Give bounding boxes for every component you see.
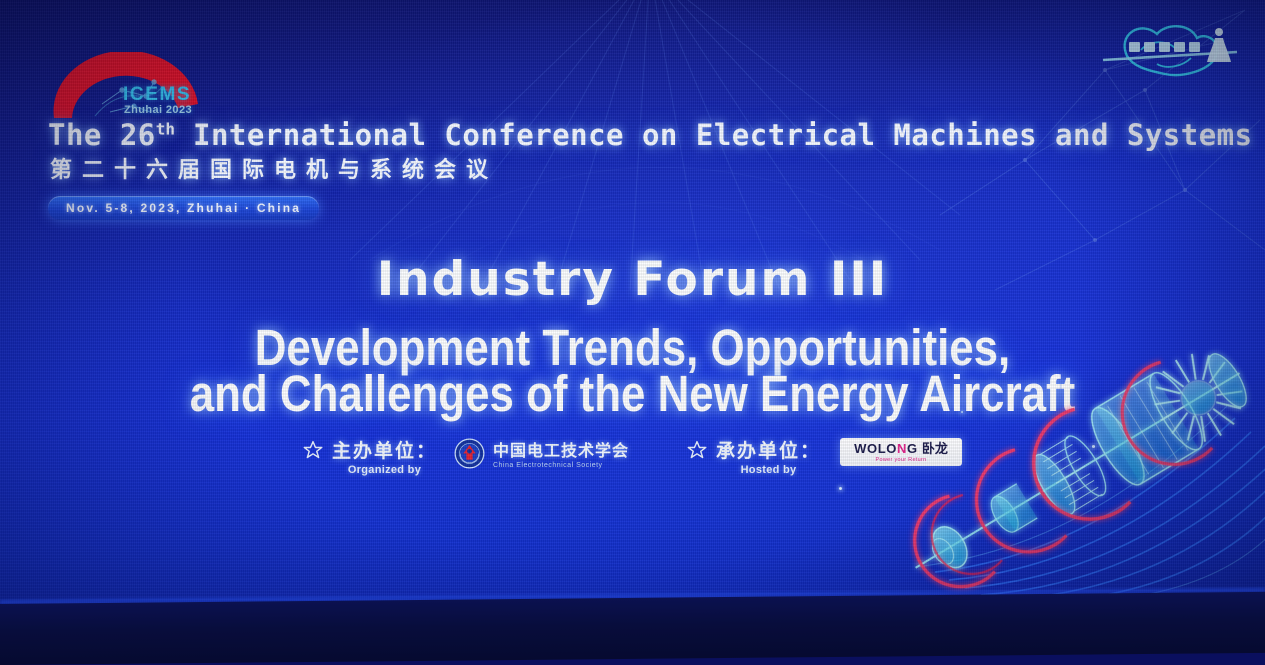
- ces-emblem-icon: [454, 438, 485, 469]
- date-location-text: Nov. 5-8, 2023, Zhuhai · China: [66, 201, 301, 215]
- star-outline-icon: [687, 440, 707, 460]
- zhuhai-city-logo: [1097, 12, 1247, 84]
- wolong-brand-accent: N: [897, 441, 907, 456]
- sponsor-role-cn: 承办单位：: [716, 436, 821, 463]
- wolong-logo: WOLONG 卧龙 Power your Return: [840, 438, 962, 466]
- conference-title-cn: 第二十六届国际电机与系统会议: [50, 152, 498, 184]
- sponsor-role-en: Hosted by: [741, 464, 797, 476]
- conference-title-superscript: th: [156, 119, 175, 138]
- icems-acronym: ICEMS: [123, 84, 191, 106]
- led-screen-panel: ICEMS Zhuhai 2023: [0, 0, 1265, 612]
- wolong-brand-cn: 卧龙: [922, 441, 948, 456]
- ces-name-cn: 中国电工技术学会: [493, 437, 629, 461]
- conference-title-en: The 26th International Conference on Ele…: [48, 118, 1253, 152]
- sparkle-dot: [839, 487, 842, 490]
- icems-logo: ICEMS Zhuhai 2023: [50, 52, 215, 122]
- conference-title-prefix: The 26: [48, 118, 156, 152]
- sponsor-role-cn: 主办单位：: [332, 436, 437, 463]
- sponsor-row: 主办单位： Organized by 中国电工技术学会 China Electr…: [0, 436, 1265, 476]
- wolong-wordmark: WOLONG 卧龙: [854, 442, 948, 455]
- china-electrotechnical-society-logo: 中国电工技术学会 China Electrotechnical Society: [454, 437, 629, 469]
- wolong-brand-part2: G: [907, 441, 918, 456]
- date-location-badge: Nov. 5-8, 2023, Zhuhai · China: [48, 196, 319, 220]
- screen-bottom-bezel: [0, 592, 1265, 665]
- wolong-tagline: Power your Return: [876, 457, 927, 463]
- forum-title: Industry Forum III: [0, 252, 1265, 307]
- sponsor-organized-by: 主办单位： Organized by 中国电工技术学会 China Electr…: [303, 436, 629, 476]
- photographed-presentation-screen: ICEMS Zhuhai 2023: [0, 0, 1265, 665]
- sponsor-hosted-by: 承办单位： Hosted by WOLONG 卧龙 Power your Ret…: [687, 436, 962, 476]
- wolong-brand-part1: WOLO: [854, 441, 897, 456]
- ces-name-en: China Electrotechnical Society: [493, 462, 629, 469]
- conference-title-rest: International Conference on Electrical M…: [175, 118, 1253, 152]
- icems-location-year: Zhuhai 2023: [124, 104, 192, 116]
- sponsor-role-en: Organized by: [348, 464, 421, 476]
- forum-subtitle-line2: and Challenges of the New Energy Aircraf…: [89, 364, 1177, 423]
- star-outline-icon: [303, 440, 323, 460]
